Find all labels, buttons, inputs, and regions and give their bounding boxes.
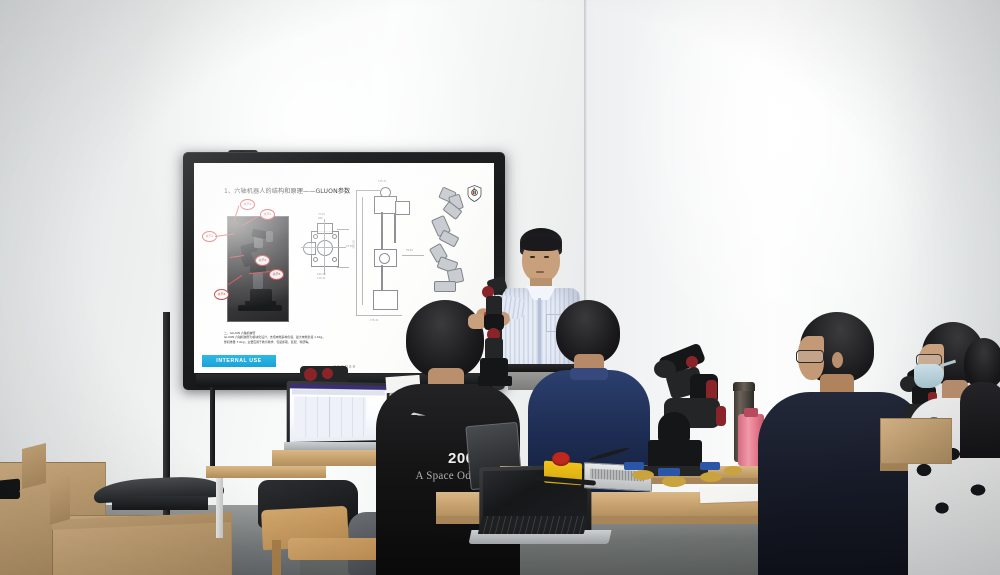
- slide-callout-4: 关节4: [255, 255, 270, 266]
- presenter-mouth-icon: [536, 271, 544, 273]
- cad-dim-3: 244.30: [317, 273, 325, 276]
- thermos-cap: [733, 382, 755, 391]
- bottle-cap: [744, 408, 758, 417]
- paper-sheet-center: [700, 485, 767, 503]
- suction-cup-2: [662, 476, 686, 487]
- slide-title: 1、六轴机器人的结构和原理——GLUON参数: [224, 186, 464, 195]
- cad-dim-4: 175.31: [317, 277, 325, 280]
- presenter-eye-right-icon: [544, 256, 549, 258]
- suction-valve-1: [624, 462, 644, 470]
- equipment-dark-panel-left: [0, 490, 20, 499]
- robot-arm-demo: [478, 278, 528, 390]
- slide-callout-3: 关节3: [260, 209, 275, 220]
- laptop-left-app-ribbon: [292, 389, 385, 395]
- laptop-macbook-keyboard[interactable]: [478, 516, 588, 534]
- presenter-eye-left-icon: [530, 256, 535, 258]
- student-3-glasses-icon: [796, 350, 824, 363]
- slide-callout-2: 关节2: [240, 199, 255, 210]
- laptop-left-grid: [294, 396, 366, 437]
- suction-valve-2: [658, 468, 680, 476]
- cad-dim-1: 78.00: [318, 213, 325, 216]
- slide-callout-5: 关节5: [269, 269, 284, 280]
- suction-valve-3: [700, 462, 720, 470]
- cardboard-box-flap-3: [50, 475, 70, 525]
- slide-callout-6: 关节6: [214, 289, 229, 300]
- robot-joint-red-left-2: [322, 368, 333, 379]
- cad-dim-6: 136.31: [378, 180, 386, 183]
- chair-left-leg: [272, 540, 281, 575]
- desk-left-leg: [216, 478, 223, 538]
- cad-dim-8: 78.00: [406, 249, 413, 252]
- screenshot-root: 1、六轴机器人的结构和原理——GLUON参数 关节1 关节2: [0, 0, 1000, 575]
- suction-cup-4: [724, 466, 742, 475]
- status-badge-internal-use: INTERNAL USE: [202, 355, 276, 367]
- suction-cup-1: [632, 470, 654, 480]
- suction-cup-3: [700, 472, 722, 482]
- wooden-box-right: [880, 418, 952, 464]
- board-stand-left-leg: [210, 387, 215, 475]
- student-4-face-mask-icon: [914, 364, 944, 388]
- cad-dim-2: Ø80: [318, 217, 323, 220]
- student-3-ear-icon: [832, 352, 843, 368]
- presenter-hair-front: [521, 236, 561, 251]
- robot-joint-red-left: [304, 368, 317, 381]
- desk-left: [206, 466, 326, 478]
- cad-dim-7: 316.50: [353, 240, 356, 248]
- student-2-collar: [570, 368, 608, 380]
- person-far-right-back: [964, 338, 1000, 458]
- cardboard-box-flap-1: [22, 443, 46, 489]
- student-5-torso: [960, 382, 1000, 458]
- shield-logo-icon: [467, 185, 482, 202]
- student-1-hair: [406, 300, 484, 378]
- student-5-hair: [964, 338, 1000, 388]
- status-badge-label: INTERNAL USE: [216, 358, 261, 364]
- equipment-dark-base: [112, 496, 208, 510]
- emergency-stop-button[interactable]: [552, 452, 570, 466]
